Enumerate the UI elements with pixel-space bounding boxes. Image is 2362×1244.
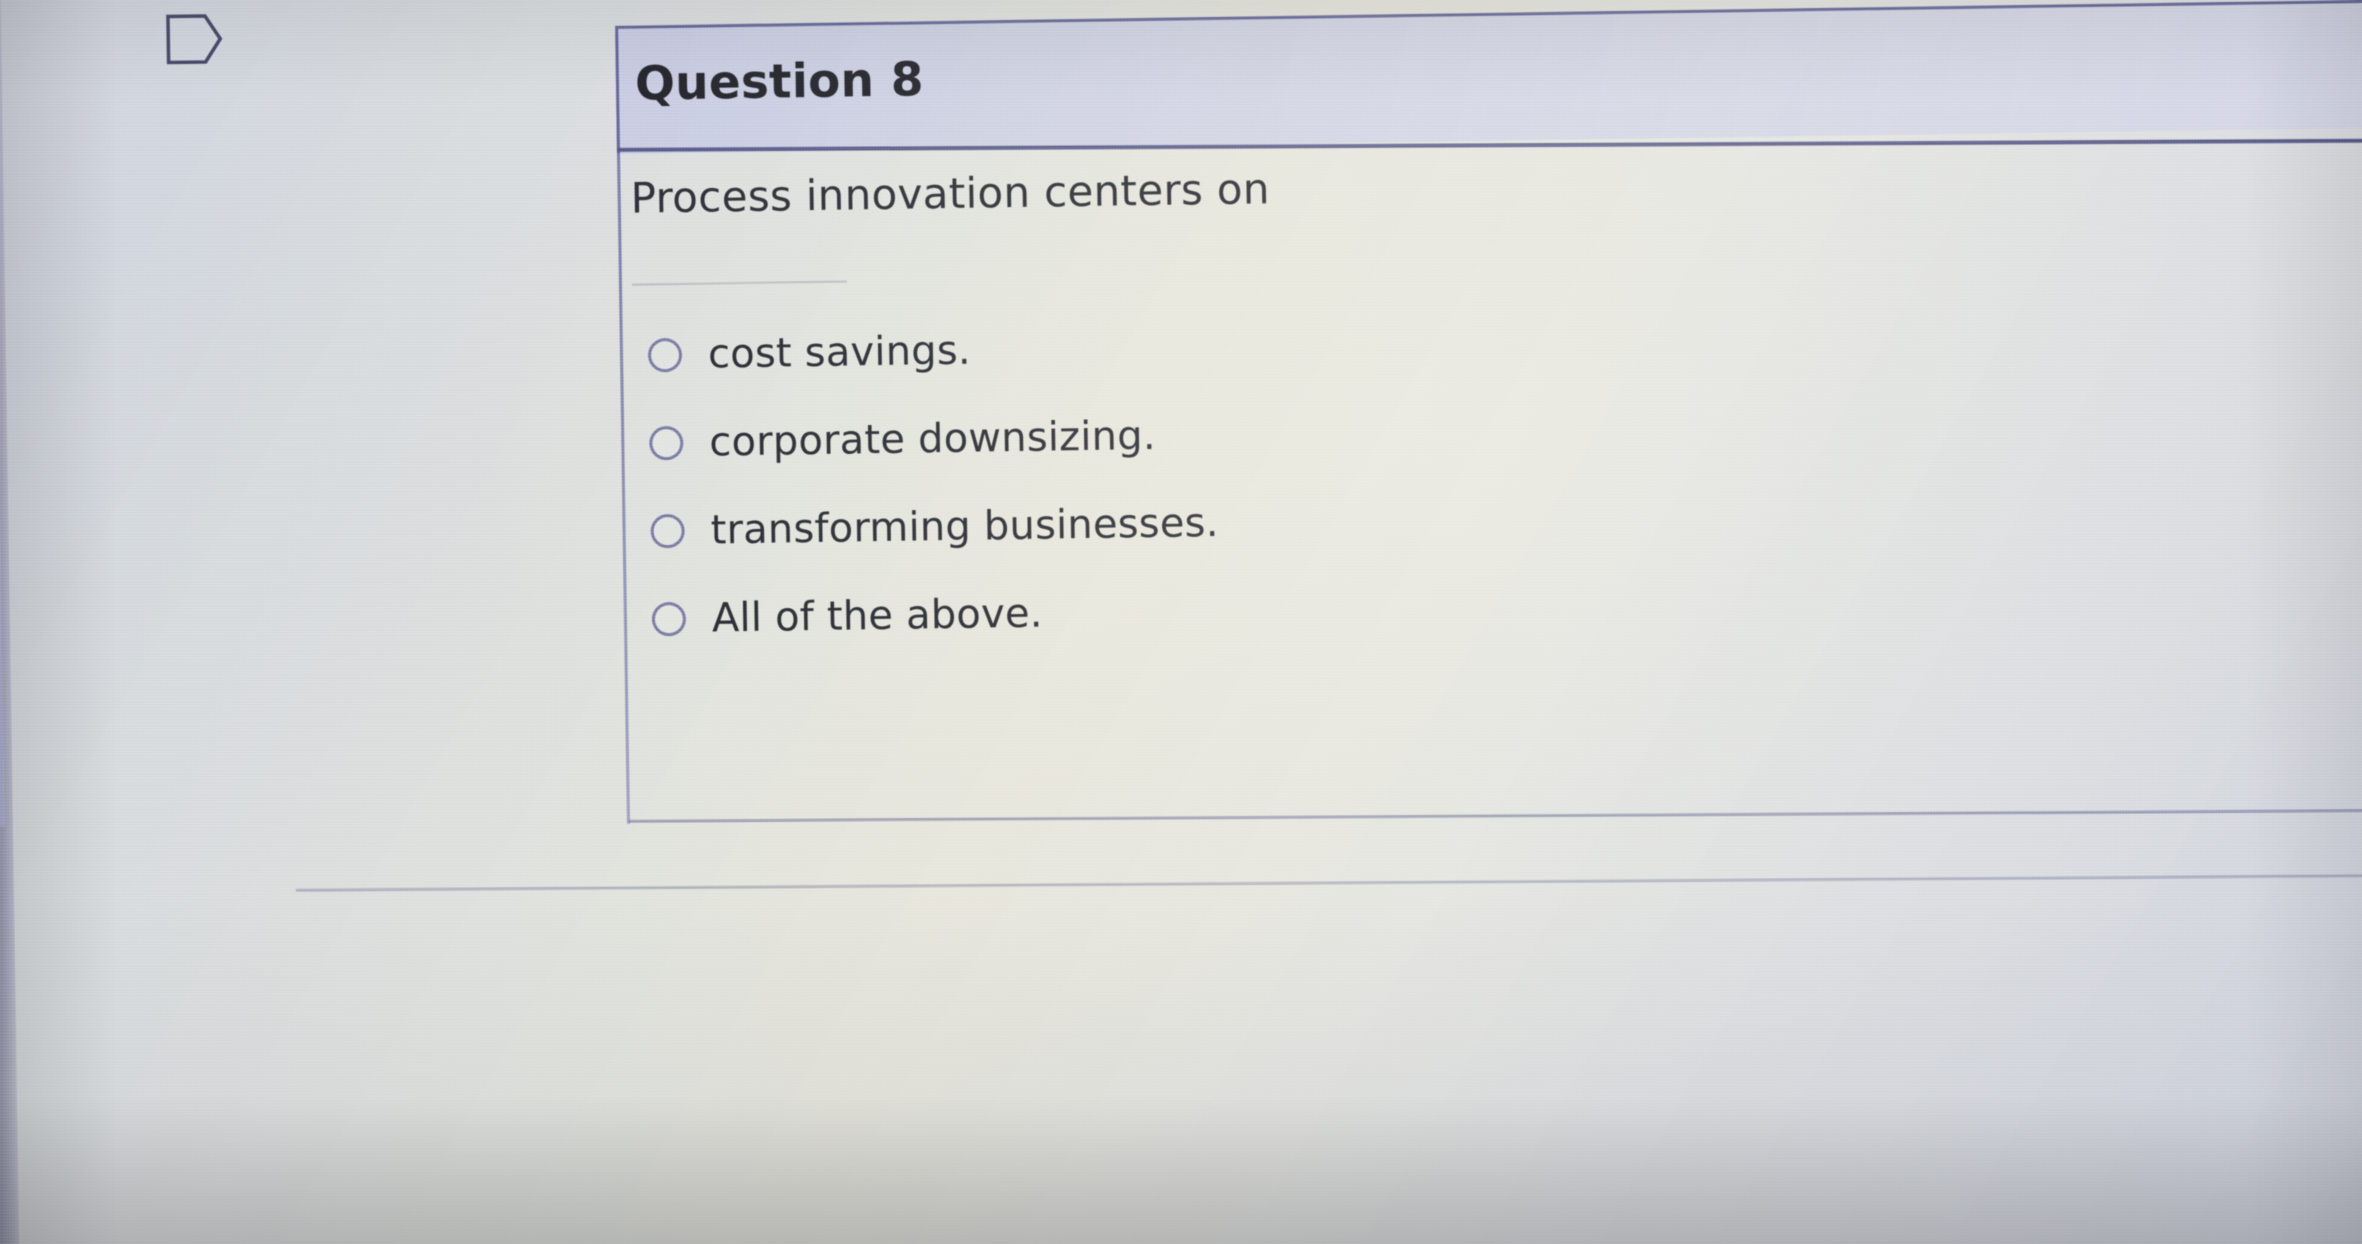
scrollbar-thumb[interactable] xyxy=(0,0,5,827)
question-bottom-border xyxy=(629,807,2362,823)
question-header-band: Question 8 xyxy=(615,0,2362,154)
prompt-hairline-separator xyxy=(632,280,847,285)
page-bottom-separator xyxy=(296,872,2362,892)
answer-option-label[interactable]: transforming businesses. xyxy=(710,500,1219,554)
radio-unselected-icon[interactable] xyxy=(648,338,683,373)
radio-unselected-icon[interactable] xyxy=(652,602,687,637)
monitor-screen-surface: Question 8 Process innovation centers on… xyxy=(0,0,2362,1244)
screen-photo: Question 8 Process innovation centers on… xyxy=(0,0,2362,1244)
radio-unselected-icon[interactable] xyxy=(649,426,684,461)
vertical-scrollbar[interactable] xyxy=(0,0,20,1244)
answer-option-d[interactable]: All of the above. xyxy=(651,558,1852,664)
question-container: Question 8 Process innovation centers on… xyxy=(282,0,2362,1244)
answer-option-label[interactable]: All of the above. xyxy=(712,591,1043,642)
answer-option-label[interactable]: cost savings. xyxy=(708,328,971,378)
question-number-title: Question 8 xyxy=(635,52,924,111)
answer-option-label[interactable]: corporate downsizing. xyxy=(709,413,1156,466)
radio-unselected-icon[interactable] xyxy=(650,514,685,549)
question-prompt-text: Process innovation centers on xyxy=(630,164,1270,222)
flag-bookmark-icon[interactable] xyxy=(165,12,224,67)
answer-options-list: cost savings. corporate downsizing. tran… xyxy=(647,294,1852,664)
